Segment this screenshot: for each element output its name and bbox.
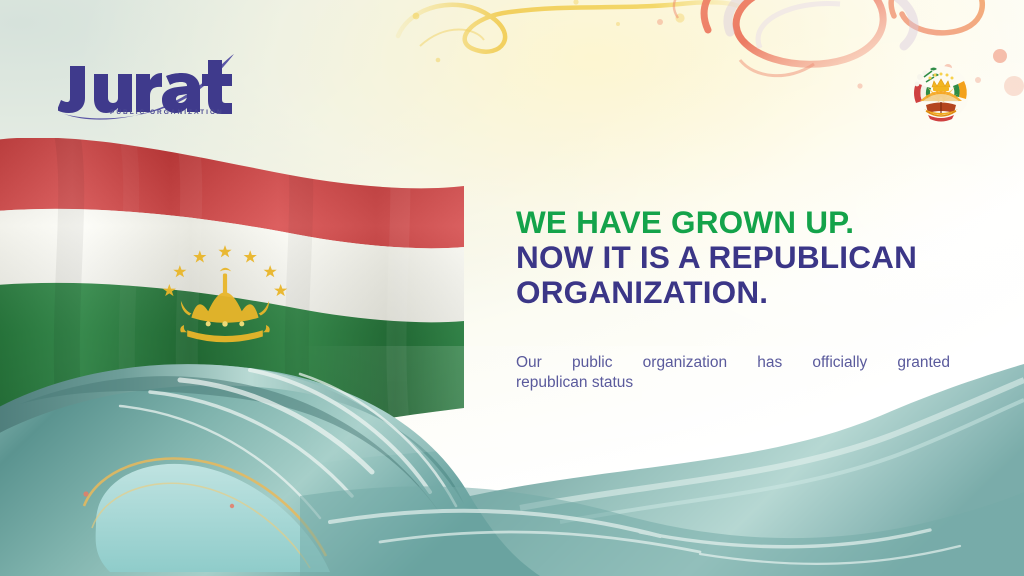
subtitle-line-1: Our public organization has officially g… [516,353,950,373]
poster-canvas: PUBLIC ORGANIZATION [0,0,1024,576]
jurat-logo[interactable]: PUBLIC ORGANIZATION [58,52,248,124]
subtitle-line-2: republican status [516,373,950,393]
page-title: WE HAVE GROWN UP. NOW IT IS A REPUBLICAN… [516,205,964,310]
text-block: WE HAVE GROWN UP. NOW IT IS A REPUBLICAN… [516,205,964,310]
headline-line-1: WE HAVE GROWN UP. [516,205,964,240]
subtitle: Our public organization has officially g… [516,353,950,393]
headline-line-2: NOW IT IS A REPUBLICAN [516,240,964,275]
logo-subtitle: PUBLIC ORGANIZATION [110,109,224,116]
headline-line-3: ORGANIZATION. [516,275,964,310]
tajikistan-state-emblem [906,57,976,127]
